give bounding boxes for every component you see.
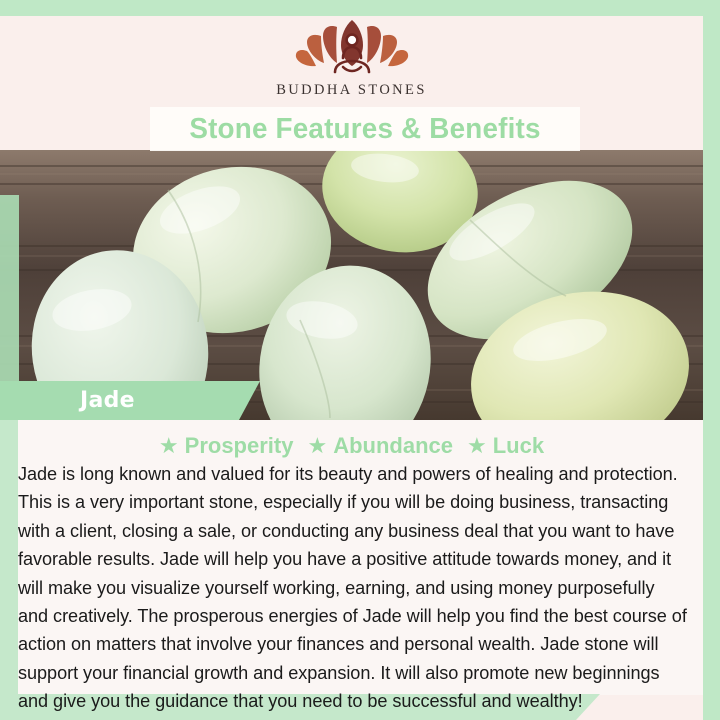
right-frame-strip [703,0,720,720]
lotus-meditation-icon [293,18,411,80]
stone-name-band: Jade [0,381,260,420]
benefit-label: Prosperity [185,433,294,459]
benefit-item-luck: ★ Luck [467,433,544,459]
page-title: Stone Features & Benefits [189,113,540,146]
benefit-item-prosperity: ★ Prosperity [159,433,294,459]
title-banner: Stone Features & Benefits [150,107,580,151]
benefit-label: Luck [493,433,544,459]
benefit-item-abundance: ★ Abundance [307,433,453,459]
jade-stones-photo [0,150,703,420]
description-paragraph: Jade is long known and valued for its be… [18,460,688,716]
top-frame-strip [0,0,720,16]
stone-name-label: Jade [80,388,135,413]
brand-header: BUDDHA STONES [0,18,703,112]
star-icon: ★ [307,435,327,457]
star-icon: ★ [467,435,487,457]
benefit-label: Abundance [333,433,453,459]
poster-root: BUDDHA STONES [0,0,720,720]
photo-illustration [0,150,703,420]
brand-name: BUDDHA STONES [276,82,427,99]
benefits-row: ★ Prosperity ★ Abundance ★ Luck [0,430,703,462]
star-icon: ★ [159,435,179,457]
